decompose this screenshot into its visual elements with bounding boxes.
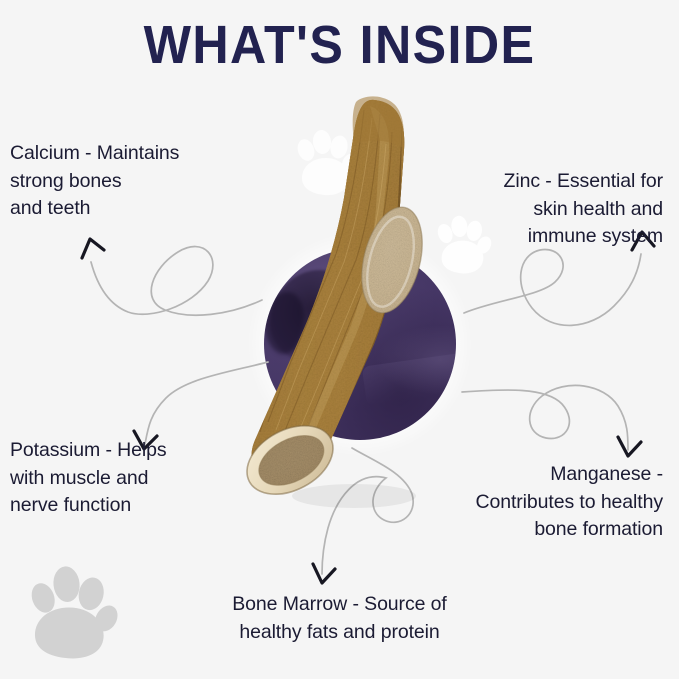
callout-potassium: Potassium - Helps with muscle and nerve … (10, 437, 167, 520)
connector-manganese (462, 385, 628, 450)
callout-calcium-line-1: Calcium - Maintains (10, 140, 179, 168)
callout-calcium: Calcium - Maintains strong bones and tee… (10, 140, 179, 223)
callout-bone-marrow: Bone Marrow - Source of healthy fats and… (0, 591, 679, 646)
callout-zinc: Zinc - Essential for skin health and imm… (504, 168, 663, 251)
callout-calcium-line-3: and teeth (10, 195, 179, 223)
center-artwork (0, 0, 679, 679)
callout-potassium-line-3: nerve function (10, 492, 167, 520)
antler-chew-illustration (246, 92, 446, 512)
callout-zinc-line-3: immune system (504, 223, 663, 251)
callout-potassium-line-1: Potassium - Helps (10, 437, 167, 465)
infographic-page: WHAT'S INSIDE (0, 0, 679, 679)
connector-calcium (91, 247, 262, 316)
callout-bone-marrow-line-1: Bone Marrow - Source of (0, 591, 679, 619)
callout-potassium-line-2: with muscle and (10, 465, 167, 493)
callout-manganese: Manganese - Contributes to healthy bone … (476, 461, 664, 544)
arrowhead-manganese (618, 437, 641, 456)
callout-zinc-line-2: skin health and (504, 196, 663, 224)
callout-calcium-line-2: strong bones (10, 168, 179, 196)
arrowhead-bone-marrow (313, 564, 335, 583)
callout-zinc-line-1: Zinc - Essential for (504, 168, 663, 196)
callout-manganese-line-3: bone formation (476, 516, 664, 544)
callout-manganese-line-1: Manganese - (476, 461, 664, 489)
callout-manganese-line-2: Contributes to healthy (476, 489, 664, 517)
callout-bone-marrow-line-2: healthy fats and protein (0, 619, 679, 647)
connector-zinc (464, 249, 641, 325)
arrowhead-calcium (82, 239, 104, 258)
